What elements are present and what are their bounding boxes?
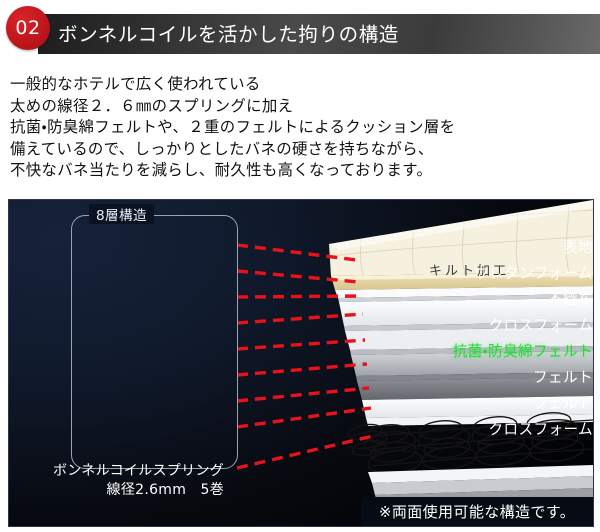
layer-list-box [71,215,238,469]
lead-line: 備えているので、しっかりとしたバネの硬さを持ちながら、 [10,139,594,161]
page-title: ボンネルコイルを活かした拘りの構造 [58,19,578,53]
section-number-badge: 02 [6,6,50,50]
lead-line: 太めの線径２．６㎜のスプリングに加え [10,96,594,118]
lead-paragraph: 一般的なホテルで広く使われている 太めの線径２．６㎜のスプリングに加え 抗菌・防… [10,74,594,182]
layer-label-urethane-foam: ウレタンフォーム [378,262,593,283]
layer-label-nonwoven: 不織布 [378,288,593,309]
section-number-label: 02 [6,6,50,50]
lead-line: 抗菌・防臭綿フェルトや、２重のフェルトによるクッション層を [10,117,594,139]
layer-label-antibacterial-felt: 抗菌・防臭綿フェルト [378,340,593,361]
spring-caption: ボンネルコイルスプリング 線径2.6mm 5巻 [9,462,224,499]
header: ボンネルコイルを活かした拘りの構造 02 [0,0,600,64]
layer-label-felt-1: フェルト [378,366,593,387]
spring-caption-line-2: 線径2.6mm 5巻 [9,481,224,500]
layer-box-legend: 8層構造 [89,204,154,224]
layer-label-hyouji: 表地 [378,236,593,257]
layer-label-cross-foam-bottom: クロスフォーム [378,418,593,439]
layer-label-cross-foam-top: クロスフォーム [378,314,593,335]
spring-caption-line-1: ボンネルコイルスプリング [9,462,224,481]
layer-label-felt-2: フェルト [378,392,593,413]
construction-diagram: キルト加工 8層構造 表地 ウレタンフォーム 不織布 クロスフォーム 抗菌・防臭… [8,199,594,527]
lead-line: 不快なバネ当たりを減らし、耐久性も高くなっております。 [10,160,594,182]
footnote-bar: ※両面使用可能な構造です。 [361,497,593,526]
footnote-text: ※両面使用可能な構造です。 [361,497,593,526]
lead-line: 一般的なホテルで広く使われている [10,74,594,96]
